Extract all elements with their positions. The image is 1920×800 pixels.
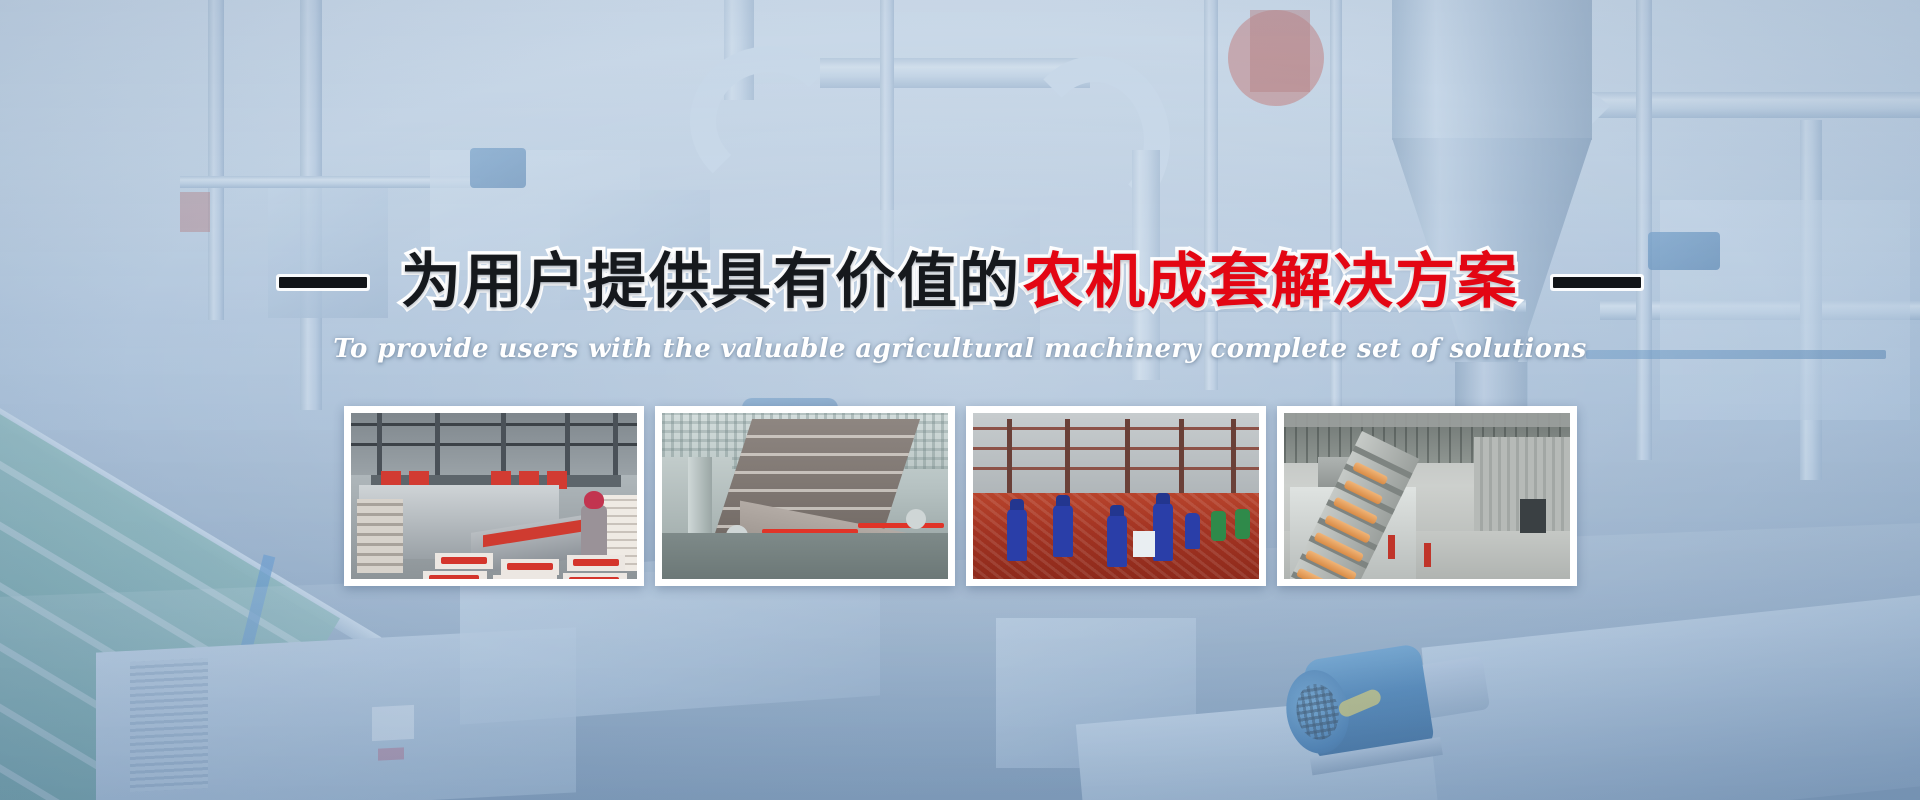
- headline: 为用户提供具有价值的 农机成套解决方案: [279, 252, 1641, 312]
- thumbnail-1[interactable]: [344, 406, 644, 586]
- thumbnail-3-image: [973, 413, 1259, 579]
- hero-banner: 为用户提供具有价值的 农机成套解决方案 To provide users wit…: [0, 0, 1920, 800]
- thumbnail-2-image: [662, 413, 948, 579]
- subtitle: To provide users with the valuable agric…: [333, 334, 1586, 364]
- thumbnail-2[interactable]: [655, 406, 955, 586]
- thumbnail-gallery: [344, 406, 1577, 586]
- banner-content: 为用户提供具有价值的 农机成套解决方案 To provide users wit…: [0, 0, 1920, 800]
- headline-rule-right-icon: [1553, 277, 1641, 288]
- thumbnail-4-image: [1284, 413, 1570, 579]
- headline-rule-left-icon: [279, 277, 367, 288]
- headline-text-dark: 为用户提供具有价值的: [401, 252, 1021, 312]
- thumbnail-1-image: [351, 413, 637, 579]
- headline-text-red: 农机成套解决方案: [1023, 252, 1519, 312]
- thumbnail-3[interactable]: [966, 406, 1266, 586]
- thumbnail-4[interactable]: [1277, 406, 1577, 586]
